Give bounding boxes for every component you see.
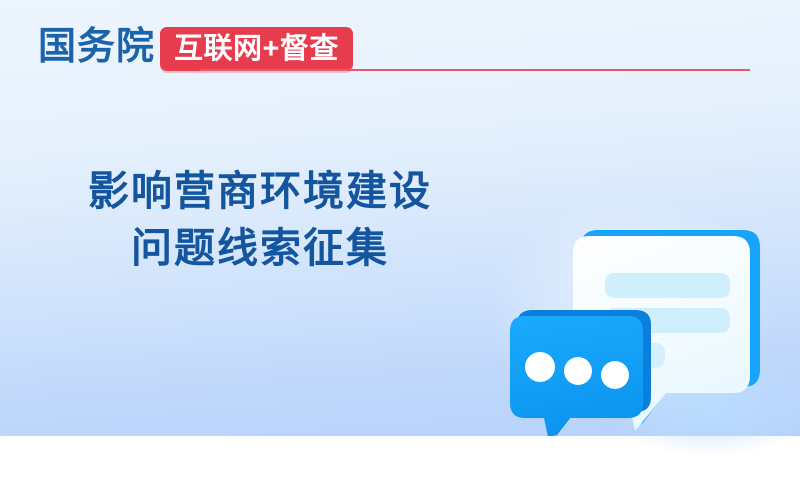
- speech-bubbles-illustration: [470, 200, 800, 436]
- small-speech-bubble: [510, 310, 651, 436]
- dot-1: [525, 352, 555, 382]
- header-divider-line: [200, 69, 750, 71]
- page-title-line-1: 影响营商环境建设: [0, 163, 520, 220]
- dot-2: [564, 357, 592, 385]
- page-title: 影响营商环境建设 问题线索征集: [0, 163, 520, 277]
- speech-bubbles-svg: [470, 200, 800, 436]
- banner-header: 国务院 互联网+督查: [0, 0, 800, 92]
- program-badge-label: 互联网+督查: [174, 34, 339, 64]
- gov-logo-text: 国务院: [38, 25, 155, 69]
- promo-banner: 国务院 互联网+督查 影响营商环境建设 问题线索征集: [0, 0, 800, 436]
- program-badge: 互联网+督查: [160, 27, 353, 71]
- bubble-text-line-1: [605, 273, 730, 298]
- page-title-line-2: 问题线索征集: [0, 220, 520, 277]
- dot-3: [601, 361, 629, 389]
